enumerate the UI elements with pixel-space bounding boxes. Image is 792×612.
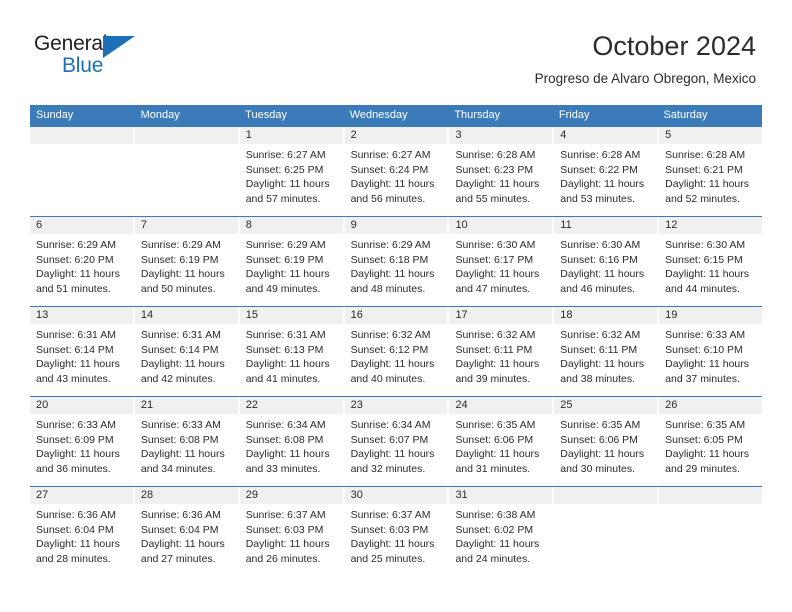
day-cell[interactable]: 28 Sunrise: 6:36 AM Sunset: 6:04 PM Dayl… [135,487,240,576]
daylight-text-line1: Daylight: 11 hours [455,537,547,552]
sunset-text: Sunset: 6:08 PM [246,433,338,448]
day-cell[interactable] [659,487,762,576]
daylight-text-line2: and 51 minutes. [36,282,128,297]
daylight-text-line1: Daylight: 11 hours [351,177,443,192]
daylight-text-line2: and 33 minutes. [246,462,338,477]
daylight-text-line1: Daylight: 11 hours [246,447,338,462]
day-details: Sunrise: 6:30 AM Sunset: 6:15 PM Dayligh… [659,234,762,296]
day-details: Sunrise: 6:36 AM Sunset: 6:04 PM Dayligh… [135,504,238,566]
daylight-text-line2: and 46 minutes. [560,282,652,297]
daylight-text-line1: Daylight: 11 hours [246,177,338,192]
daylight-text-line2: and 49 minutes. [246,282,338,297]
daylight-text-line2: and 53 minutes. [560,192,652,207]
sunset-text: Sunset: 6:04 PM [36,523,128,538]
daylight-text-line2: and 36 minutes. [36,462,128,477]
daylight-text-line2: and 40 minutes. [351,372,443,387]
daylight-text-line2: and 41 minutes. [246,372,338,387]
daylight-text-line1: Daylight: 11 hours [351,357,443,372]
sunset-text: Sunset: 6:03 PM [351,523,443,538]
day-details: Sunrise: 6:31 AM Sunset: 6:14 PM Dayligh… [135,324,238,386]
sunset-text: Sunset: 6:03 PM [246,523,338,538]
daylight-text-line2: and 55 minutes. [455,192,547,207]
daylight-text-line1: Daylight: 11 hours [455,177,547,192]
daylight-text-line2: and 34 minutes. [141,462,233,477]
day-number: 4 [554,127,657,144]
sunrise-text: Sunrise: 6:27 AM [351,148,443,163]
day-details: Sunrise: 6:31 AM Sunset: 6:13 PM Dayligh… [240,324,343,386]
daylight-text-line1: Daylight: 11 hours [455,447,547,462]
day-details: Sunrise: 6:35 AM Sunset: 6:06 PM Dayligh… [554,414,657,476]
page-title: October 2024 [535,30,756,62]
sunset-text: Sunset: 6:08 PM [141,433,233,448]
day-number: 6 [30,217,133,234]
daylight-text-line2: and 25 minutes. [351,552,443,567]
day-cell[interactable]: 29 Sunrise: 6:37 AM Sunset: 6:03 PM Dayl… [240,487,345,576]
day-number [659,487,762,504]
sunrise-text: Sunrise: 6:34 AM [351,418,443,433]
day-details: Sunrise: 6:27 AM Sunset: 6:25 PM Dayligh… [240,144,343,206]
day-number: 20 [30,397,133,414]
weekday-header-row: Sunday Monday Tuesday Wednesday Thursday… [30,105,762,126]
sunrise-text: Sunrise: 6:36 AM [141,508,233,523]
daylight-text-line1: Daylight: 11 hours [246,537,338,552]
sunset-text: Sunset: 6:09 PM [36,433,128,448]
day-details: Sunrise: 6:35 AM Sunset: 6:06 PM Dayligh… [449,414,552,476]
daylight-text-line2: and 52 minutes. [665,192,757,207]
page-header: General Blue October 2024 Progreso de Al… [0,0,792,104]
day-number: 1 [240,127,343,144]
day-cell[interactable]: 12 Sunrise: 6:30 AM Sunset: 6:15 PM Dayl… [659,217,762,306]
day-number: 3 [449,127,552,144]
day-number: 19 [659,307,762,324]
day-number [135,127,238,144]
day-details: Sunrise: 6:29 AM Sunset: 6:19 PM Dayligh… [240,234,343,296]
day-cell[interactable]: 24 Sunrise: 6:35 AM Sunset: 6:06 PM Dayl… [449,397,554,486]
daylight-text-line2: and 44 minutes. [665,282,757,297]
daylight-text-line2: and 50 minutes. [141,282,233,297]
day-cell[interactable]: 19 Sunrise: 6:33 AM Sunset: 6:10 PM Dayl… [659,307,762,396]
sunset-text: Sunset: 6:13 PM [246,343,338,358]
day-details: Sunrise: 6:27 AM Sunset: 6:24 PM Dayligh… [345,144,448,206]
sunset-text: Sunset: 6:19 PM [246,253,338,268]
day-details: Sunrise: 6:36 AM Sunset: 6:04 PM Dayligh… [30,504,133,566]
day-details: Sunrise: 6:29 AM Sunset: 6:18 PM Dayligh… [345,234,448,296]
weekday-header-tuesday: Tuesday [239,105,344,126]
day-details: Sunrise: 6:30 AM Sunset: 6:17 PM Dayligh… [449,234,552,296]
day-number: 18 [554,307,657,324]
sunrise-text: Sunrise: 6:35 AM [455,418,547,433]
sunset-text: Sunset: 6:16 PM [560,253,652,268]
daylight-text-line2: and 32 minutes. [351,462,443,477]
day-details [135,144,238,148]
weekday-header-wednesday: Wednesday [344,105,449,126]
daylight-text-line1: Daylight: 11 hours [141,357,233,372]
daylight-text-line2: and 24 minutes. [455,552,547,567]
daylight-text-line1: Daylight: 11 hours [36,267,128,282]
daylight-text-line1: Daylight: 11 hours [665,177,757,192]
sunset-text: Sunset: 6:10 PM [665,343,757,358]
daylight-text-line2: and 47 minutes. [455,282,547,297]
day-number: 24 [449,397,552,414]
day-details: Sunrise: 6:33 AM Sunset: 6:08 PM Dayligh… [135,414,238,476]
sunset-text: Sunset: 6:22 PM [560,163,652,178]
day-number: 7 [135,217,238,234]
sunrise-text: Sunrise: 6:29 AM [141,238,233,253]
sunrise-text: Sunrise: 6:33 AM [141,418,233,433]
day-details [30,144,133,148]
weekday-header-friday: Friday [553,105,658,126]
sunset-text: Sunset: 6:18 PM [351,253,443,268]
day-cell[interactable]: 15 Sunrise: 6:31 AM Sunset: 6:13 PM Dayl… [240,307,345,396]
daylight-text-line1: Daylight: 11 hours [560,447,652,462]
daylight-text-line2: and 48 minutes. [351,282,443,297]
daylight-text-line1: Daylight: 11 hours [351,447,443,462]
logo-text-blue: Blue [62,54,103,78]
weekday-header-sunday: Sunday [30,105,135,126]
daylight-text-line1: Daylight: 11 hours [141,447,233,462]
sunrise-text: Sunrise: 6:29 AM [351,238,443,253]
sunrise-text: Sunrise: 6:33 AM [665,328,757,343]
day-cell[interactable]: 27 Sunrise: 6:36 AM Sunset: 6:04 PM Dayl… [30,487,135,576]
sunrise-text: Sunrise: 6:32 AM [351,328,443,343]
day-details: Sunrise: 6:34 AM Sunset: 6:07 PM Dayligh… [345,414,448,476]
daylight-text-line1: Daylight: 11 hours [351,267,443,282]
sunrise-text: Sunrise: 6:36 AM [36,508,128,523]
day-cell[interactable]: 11 Sunrise: 6:30 AM Sunset: 6:16 PM Dayl… [554,217,659,306]
day-details: Sunrise: 6:35 AM Sunset: 6:05 PM Dayligh… [659,414,762,476]
daylight-text-line2: and 28 minutes. [36,552,128,567]
day-number: 2 [345,127,448,144]
calendar-page: General Blue October 2024 Progreso de Al… [0,0,792,612]
daylight-text-line1: Daylight: 11 hours [36,447,128,462]
day-number: 9 [345,217,448,234]
day-cell[interactable]: 9 Sunrise: 6:29 AM Sunset: 6:18 PM Dayli… [345,217,450,306]
day-cell[interactable]: 23 Sunrise: 6:34 AM Sunset: 6:07 PM Dayl… [345,397,450,486]
daylight-text-line1: Daylight: 11 hours [665,447,757,462]
day-number: 23 [345,397,448,414]
logo-text-general: General [34,32,107,56]
day-details: Sunrise: 6:28 AM Sunset: 6:22 PM Dayligh… [554,144,657,206]
sunrise-text: Sunrise: 6:37 AM [351,508,443,523]
general-blue-logo[interactable]: General Blue [34,32,164,84]
day-number: 25 [554,397,657,414]
week-row: 6 Sunrise: 6:29 AM Sunset: 6:20 PM Dayli… [30,216,762,306]
day-details [554,504,657,508]
day-cell[interactable]: 2 Sunrise: 6:27 AM Sunset: 6:24 PM Dayli… [345,127,450,216]
sunrise-text: Sunrise: 6:29 AM [36,238,128,253]
daylight-text-line1: Daylight: 11 hours [665,357,757,372]
sunset-text: Sunset: 6:14 PM [36,343,128,358]
day-details: Sunrise: 6:37 AM Sunset: 6:03 PM Dayligh… [345,504,448,566]
sunrise-text: Sunrise: 6:31 AM [246,328,338,343]
week-row: 13 Sunrise: 6:31 AM Sunset: 6:14 PM Dayl… [30,306,762,396]
day-number: 15 [240,307,343,324]
daylight-text-line1: Daylight: 11 hours [246,267,338,282]
daylight-text-line1: Daylight: 11 hours [455,267,547,282]
day-details: Sunrise: 6:32 AM Sunset: 6:12 PM Dayligh… [345,324,448,386]
day-number: 8 [240,217,343,234]
day-number: 21 [135,397,238,414]
sunset-text: Sunset: 6:06 PM [560,433,652,448]
sunrise-text: Sunrise: 6:30 AM [560,238,652,253]
sunset-text: Sunset: 6:11 PM [455,343,547,358]
daylight-text-line2: and 29 minutes. [665,462,757,477]
sunset-text: Sunset: 6:23 PM [455,163,547,178]
day-cell[interactable]: 30 Sunrise: 6:37 AM Sunset: 6:03 PM Dayl… [345,487,450,576]
sunset-text: Sunset: 6:17 PM [455,253,547,268]
day-cell[interactable]: 21 Sunrise: 6:33 AM Sunset: 6:08 PM Dayl… [135,397,240,486]
daylight-text-line2: and 42 minutes. [141,372,233,387]
day-details: Sunrise: 6:38 AM Sunset: 6:02 PM Dayligh… [449,504,552,566]
sunrise-text: Sunrise: 6:31 AM [141,328,233,343]
day-details: Sunrise: 6:32 AM Sunset: 6:11 PM Dayligh… [554,324,657,386]
day-cell[interactable]: 26 Sunrise: 6:35 AM Sunset: 6:05 PM Dayl… [659,397,762,486]
day-number [30,127,133,144]
daylight-text-line1: Daylight: 11 hours [560,357,652,372]
day-details: Sunrise: 6:33 AM Sunset: 6:09 PM Dayligh… [30,414,133,476]
daylight-text-line1: Daylight: 11 hours [36,537,128,552]
daylight-text-line1: Daylight: 11 hours [351,537,443,552]
daylight-text-line2: and 27 minutes. [141,552,233,567]
weekday-header-saturday: Saturday [657,105,762,126]
day-details: Sunrise: 6:29 AM Sunset: 6:20 PM Dayligh… [30,234,133,296]
day-cell[interactable]: 8 Sunrise: 6:29 AM Sunset: 6:19 PM Dayli… [240,217,345,306]
day-cell[interactable]: 6 Sunrise: 6:29 AM Sunset: 6:20 PM Dayli… [30,217,135,306]
day-cell[interactable]: 22 Sunrise: 6:34 AM Sunset: 6:08 PM Dayl… [240,397,345,486]
day-number [554,487,657,504]
sunset-text: Sunset: 6:04 PM [141,523,233,538]
daylight-text-line2: and 38 minutes. [560,372,652,387]
sunset-text: Sunset: 6:20 PM [36,253,128,268]
sunrise-text: Sunrise: 6:32 AM [560,328,652,343]
day-details: Sunrise: 6:28 AM Sunset: 6:23 PM Dayligh… [449,144,552,206]
sunset-text: Sunset: 6:19 PM [141,253,233,268]
day-number: 27 [30,487,133,504]
daylight-text-line2: and 57 minutes. [246,192,338,207]
sunset-text: Sunset: 6:15 PM [665,253,757,268]
page-subtitle: Progreso de Alvaro Obregon, Mexico [535,70,756,88]
triangle-icon [103,36,135,58]
sunset-text: Sunset: 6:02 PM [455,523,547,538]
sunrise-text: Sunrise: 6:38 AM [455,508,547,523]
daylight-text-line2: and 43 minutes. [36,372,128,387]
day-details: Sunrise: 6:30 AM Sunset: 6:16 PM Dayligh… [554,234,657,296]
day-details: Sunrise: 6:34 AM Sunset: 6:08 PM Dayligh… [240,414,343,476]
day-details: Sunrise: 6:37 AM Sunset: 6:03 PM Dayligh… [240,504,343,566]
day-details: Sunrise: 6:33 AM Sunset: 6:10 PM Dayligh… [659,324,762,386]
day-number: 13 [30,307,133,324]
sunrise-text: Sunrise: 6:31 AM [36,328,128,343]
sunset-text: Sunset: 6:24 PM [351,163,443,178]
sunset-text: Sunset: 6:14 PM [141,343,233,358]
day-details: Sunrise: 6:29 AM Sunset: 6:19 PM Dayligh… [135,234,238,296]
day-details: Sunrise: 6:28 AM Sunset: 6:21 PM Dayligh… [659,144,762,206]
sunset-text: Sunset: 6:07 PM [351,433,443,448]
sunrise-text: Sunrise: 6:33 AM [36,418,128,433]
sunrise-text: Sunrise: 6:30 AM [455,238,547,253]
daylight-text-line1: Daylight: 11 hours [560,267,652,282]
sunrise-text: Sunrise: 6:35 AM [665,418,757,433]
sunset-text: Sunset: 6:21 PM [665,163,757,178]
day-cell[interactable] [554,487,659,576]
sunrise-text: Sunrise: 6:34 AM [246,418,338,433]
day-cell[interactable]: 10 Sunrise: 6:30 AM Sunset: 6:17 PM Dayl… [449,217,554,306]
day-cell[interactable]: 3 Sunrise: 6:28 AM Sunset: 6:23 PM Dayli… [449,127,554,216]
day-number: 12 [659,217,762,234]
day-number: 17 [449,307,552,324]
sunrise-text: Sunrise: 6:29 AM [246,238,338,253]
sunrise-text: Sunrise: 6:35 AM [560,418,652,433]
title-block: October 2024 Progreso de Alvaro Obregon,… [535,30,756,88]
daylight-text-line1: Daylight: 11 hours [36,357,128,372]
sunrise-text: Sunrise: 6:32 AM [455,328,547,343]
day-cell[interactable]: 13 Sunrise: 6:31 AM Sunset: 6:14 PM Dayl… [30,307,135,396]
day-number: 28 [135,487,238,504]
sunset-text: Sunset: 6:05 PM [665,433,757,448]
daylight-text-line2: and 26 minutes. [246,552,338,567]
day-number: 11 [554,217,657,234]
daylight-text-line2: and 56 minutes. [351,192,443,207]
daylight-text-line1: Daylight: 11 hours [141,537,233,552]
daylight-text-line2: and 39 minutes. [455,372,547,387]
day-number: 31 [449,487,552,504]
day-number: 26 [659,397,762,414]
day-details: Sunrise: 6:31 AM Sunset: 6:14 PM Dayligh… [30,324,133,386]
day-cell[interactable]: 16 Sunrise: 6:32 AM Sunset: 6:12 PM Dayl… [345,307,450,396]
week-row: 1 Sunrise: 6:27 AM Sunset: 6:25 PM Dayli… [30,126,762,216]
day-cell[interactable]: 18 Sunrise: 6:32 AM Sunset: 6:11 PM Dayl… [554,307,659,396]
sunrise-text: Sunrise: 6:27 AM [246,148,338,163]
day-number: 29 [240,487,343,504]
week-row: 27 Sunrise: 6:36 AM Sunset: 6:04 PM Dayl… [30,486,762,576]
daylight-text-line1: Daylight: 11 hours [560,177,652,192]
day-number: 16 [345,307,448,324]
day-number: 30 [345,487,448,504]
day-cell[interactable]: 7 Sunrise: 6:29 AM Sunset: 6:19 PM Dayli… [135,217,240,306]
sunrise-text: Sunrise: 6:28 AM [665,148,757,163]
day-cell[interactable]: 20 Sunrise: 6:33 AM Sunset: 6:09 PM Dayl… [30,397,135,486]
daylight-text-line2: and 37 minutes. [665,372,757,387]
day-cell[interactable] [30,127,135,216]
sunrise-text: Sunrise: 6:30 AM [665,238,757,253]
weekday-header-monday: Monday [135,105,240,126]
sunset-text: Sunset: 6:11 PM [560,343,652,358]
sunrise-text: Sunrise: 6:28 AM [455,148,547,163]
sunset-text: Sunset: 6:25 PM [246,163,338,178]
sunset-text: Sunset: 6:12 PM [351,343,443,358]
day-details: Sunrise: 6:32 AM Sunset: 6:11 PM Dayligh… [449,324,552,386]
day-cell[interactable]: 25 Sunrise: 6:35 AM Sunset: 6:06 PM Dayl… [554,397,659,486]
daylight-text-line2: and 31 minutes. [455,462,547,477]
day-number: 14 [135,307,238,324]
day-cell[interactable]: 1 Sunrise: 6:27 AM Sunset: 6:25 PM Dayli… [240,127,345,216]
sunrise-text: Sunrise: 6:28 AM [560,148,652,163]
weekday-header-thursday: Thursday [448,105,553,126]
day-cell[interactable] [135,127,240,216]
day-number: 22 [240,397,343,414]
calendar-grid: Sunday Monday Tuesday Wednesday Thursday… [30,105,762,576]
day-number: 10 [449,217,552,234]
day-cell[interactable]: 17 Sunrise: 6:32 AM Sunset: 6:11 PM Dayl… [449,307,554,396]
day-cell[interactable]: 31 Sunrise: 6:38 AM Sunset: 6:02 PM Dayl… [449,487,554,576]
daylight-text-line1: Daylight: 11 hours [141,267,233,282]
day-cell[interactable]: 14 Sunrise: 6:31 AM Sunset: 6:14 PM Dayl… [135,307,240,396]
day-cell[interactable]: 5 Sunrise: 6:28 AM Sunset: 6:21 PM Dayli… [659,127,762,216]
sunrise-text: Sunrise: 6:37 AM [246,508,338,523]
daylight-text-line2: and 30 minutes. [560,462,652,477]
daylight-text-line1: Daylight: 11 hours [455,357,547,372]
day-cell[interactable]: 4 Sunrise: 6:28 AM Sunset: 6:22 PM Dayli… [554,127,659,216]
week-row: 20 Sunrise: 6:33 AM Sunset: 6:09 PM Dayl… [30,396,762,486]
daylight-text-line1: Daylight: 11 hours [665,267,757,282]
daylight-text-line1: Daylight: 11 hours [246,357,338,372]
sunset-text: Sunset: 6:06 PM [455,433,547,448]
day-number: 5 [659,127,762,144]
day-details [659,504,762,508]
